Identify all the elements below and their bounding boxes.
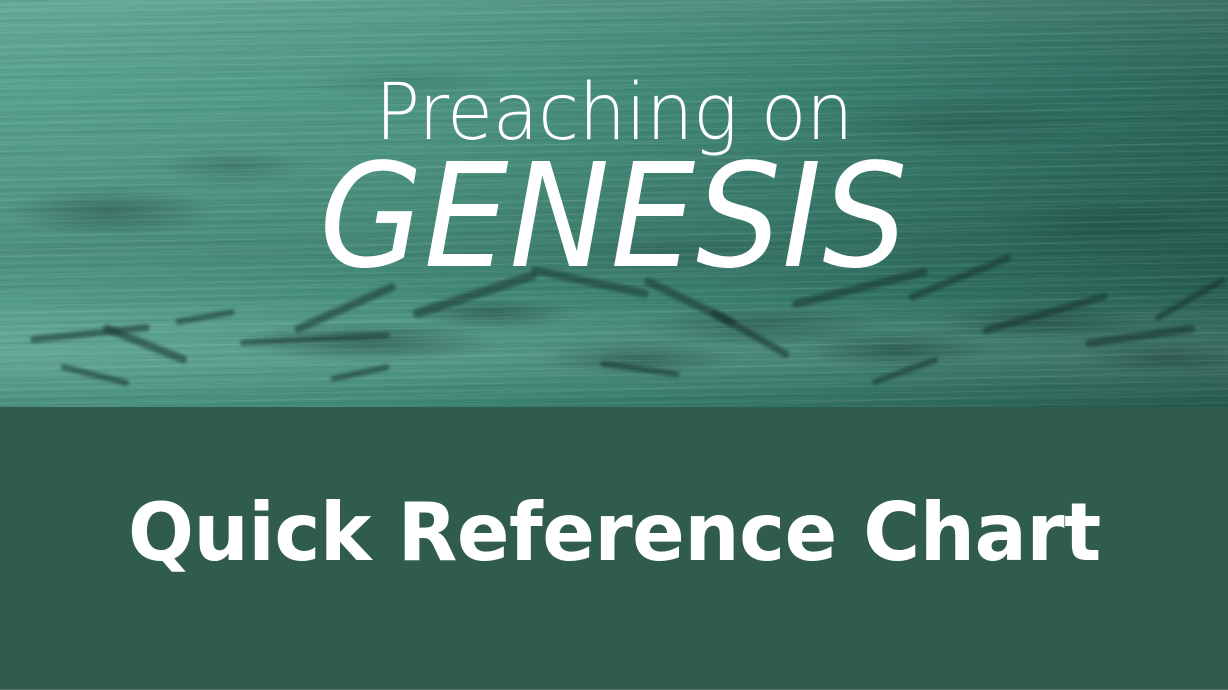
slide: Preaching on GENESIS Quick Reference Cha… [0, 0, 1228, 690]
hero-text-block: Preaching on GENESIS [0, 0, 1228, 407]
genesis-title: GENESIS [319, 144, 908, 288]
subtitle-band: Quick Reference Chart [0, 407, 1228, 690]
quick-reference-chart-title: Quick Reference Chart [128, 493, 1101, 573]
hero-banner: Preaching on GENESIS [0, 0, 1228, 407]
